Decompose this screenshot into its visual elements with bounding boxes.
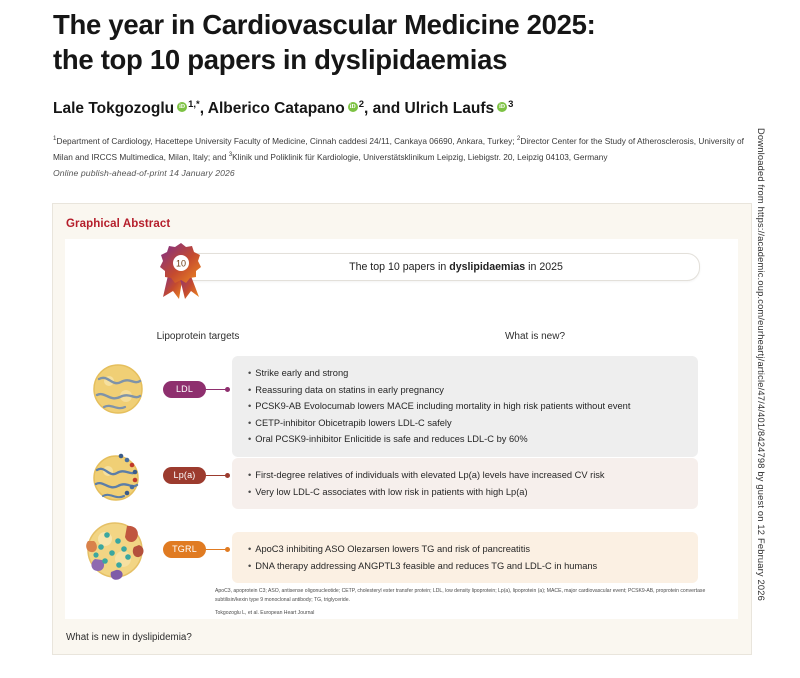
- bullet-item: PCSK9-AB Evolocumab lowers MACE includin…: [248, 398, 684, 415]
- title-line-2: the top 10 papers in dyslipidaemias: [53, 43, 743, 78]
- banner-text: The top 10 papers in dyslipidaemias in 2…: [177, 254, 699, 280]
- ldl-particle: [90, 361, 146, 422]
- affiliations: 1Department of Cardiology, Hacettepe Uni…: [53, 133, 753, 165]
- title-line-1: The year in Cardiovascular Medicine 2025…: [53, 8, 743, 43]
- graphical-abstract-figure: The top 10 papers in dyslipidaemias in 2…: [65, 239, 738, 619]
- orcid-icon[interactable]: [348, 102, 358, 112]
- graphical-abstract-card: Graphical Abstract The top 10 papers in …: [52, 203, 752, 655]
- bullet-item: DNA therapy addressing ANGPTL3 feasible …: [248, 558, 684, 575]
- graphical-abstract-heading: Graphical Abstract: [66, 218, 170, 230]
- column-header-lipoprotein-targets: Lipoprotein targets: [108, 331, 288, 342]
- publication-date: Online publish-ahead-of-print 14 January…: [53, 168, 235, 178]
- figure-citation: Tokgozoglu L, et al. European Heart Jour…: [215, 610, 314, 616]
- medal-number: 10: [176, 259, 186, 269]
- connector-dot-tgrl: [225, 547, 230, 552]
- tgrl-particle: [83, 519, 149, 586]
- column-header-what-is-new: What is new?: [345, 331, 725, 342]
- bullet-item: First-degree relatives of individuals wi…: [248, 467, 684, 484]
- affiliation-1: Department of Cardiology, Hacettepe Univ…: [56, 136, 516, 146]
- bullet-item: Very low LDL-C associates with low risk …: [248, 484, 684, 501]
- author-name-1[interactable]: Lale Tokgozoglu: [53, 100, 174, 117]
- author-name-3[interactable]: Ulrich Laufs: [405, 100, 495, 117]
- bullet-item: ApoC3 inhibiting ASO Olezarsen lowers TG…: [248, 541, 684, 558]
- lipoprotein-pill-ldl: LDL: [163, 381, 206, 398]
- bullet-panel-ldl: Strike early and strong Reassuring data …: [232, 356, 698, 457]
- author-list: Lale Tokgozoglu1,*, Alberico Catapano2, …: [53, 99, 753, 119]
- banner-text-post: in 2025: [525, 261, 563, 273]
- connector-dot-ldl: [225, 387, 230, 392]
- bullet-panel-lpa: First-degree relatives of individuals wi…: [232, 458, 698, 509]
- author-affil-marker-1: 1,*: [188, 99, 200, 110]
- graphical-abstract-caption: What is new in dyslipidemia?: [66, 632, 192, 643]
- banner-text-emphasis: dyslipidaemias: [449, 261, 525, 273]
- medal-rosette-icon: 10: [155, 241, 209, 301]
- orcid-icon[interactable]: [497, 102, 507, 112]
- bullet-item: Reassuring data on statins in early preg…: [248, 382, 684, 399]
- author-separator-1: ,: [200, 100, 208, 117]
- bullet-panel-tgrl: ApoC3 inhibiting ASO Olezarsen lowers TG…: [232, 532, 698, 583]
- bullet-item: Strike early and strong: [248, 365, 684, 382]
- connector-dot-lpa: [225, 473, 230, 478]
- top10-banner: The top 10 papers in dyslipidaemias in 2…: [176, 253, 700, 281]
- lipoprotein-pill-tgrl: TGRL: [163, 541, 206, 558]
- bullet-item: Oral PCSK9-inhibitor Enlicitide is safe …: [248, 431, 684, 448]
- banner-text-pre: The top 10 papers in: [349, 261, 449, 273]
- page-title: The year in Cardiovascular Medicine 2025…: [53, 8, 743, 78]
- bullet-item: CETP-inhibitor Obicetrapib lowers LDL-C …: [248, 415, 684, 432]
- download-source-stamp: Downloaded from https://academic.oup.com…: [756, 128, 766, 668]
- lpa-particle: [90, 448, 146, 509]
- author-affil-marker-3: 3: [508, 99, 513, 110]
- article-page: The year in Cardiovascular Medicine 2025…: [0, 0, 800, 678]
- affiliation-3: Klinik und Poliklinik für Kardiologie, U…: [232, 152, 607, 162]
- lipoprotein-pill-lpa: Lp(a): [163, 467, 206, 484]
- author-separator-2: , and: [364, 100, 404, 117]
- abbreviations-footnote: ApoC3, apoprotein C3; ASO, antisense oli…: [215, 587, 723, 605]
- orcid-icon[interactable]: [177, 102, 187, 112]
- author-name-2[interactable]: Alberico Catapano: [208, 100, 345, 117]
